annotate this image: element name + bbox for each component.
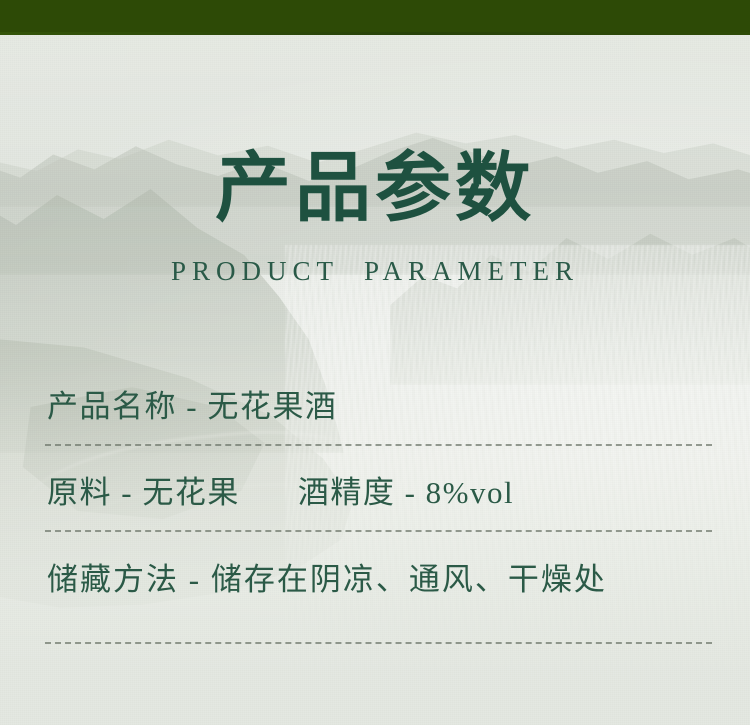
parameter-row-storage-method: 储藏方法 - 储存在阴凉、通风、干燥处 xyxy=(0,532,750,644)
product-parameter-page: 产品参数 PRODUCT PARAMETER 产品名称 - 无花果酒 原料 - … xyxy=(0,0,750,725)
page-title-en: PRODUCT PARAMETER xyxy=(0,256,750,287)
page-title-cn: 产品参数 xyxy=(0,150,750,230)
parameter-row-ingredient-alcohol: 原料 - 无花果 酒精度 - 8%vol xyxy=(0,446,750,532)
parameter-alcohol-content: 酒精度 - 8%vol xyxy=(298,467,514,512)
parameter-row-product-name: 产品名称 - 无花果酒 xyxy=(0,360,750,446)
parameter-list: 产品名称 - 无花果酒 原料 - 无花果 酒精度 - 8%vol 储藏方法 - … xyxy=(0,360,750,644)
top-accent-band xyxy=(0,0,750,35)
parameter-storage-method: 储藏方法 - 储存在阴凉、通风、干燥处 xyxy=(47,554,607,599)
page-heading: 产品参数 PRODUCT PARAMETER xyxy=(0,150,750,287)
parameter-ingredient: 原料 - 无花果 xyxy=(47,467,240,512)
row-divider xyxy=(45,642,712,644)
parameter-product-name: 产品名称 - 无花果酒 xyxy=(47,381,337,426)
